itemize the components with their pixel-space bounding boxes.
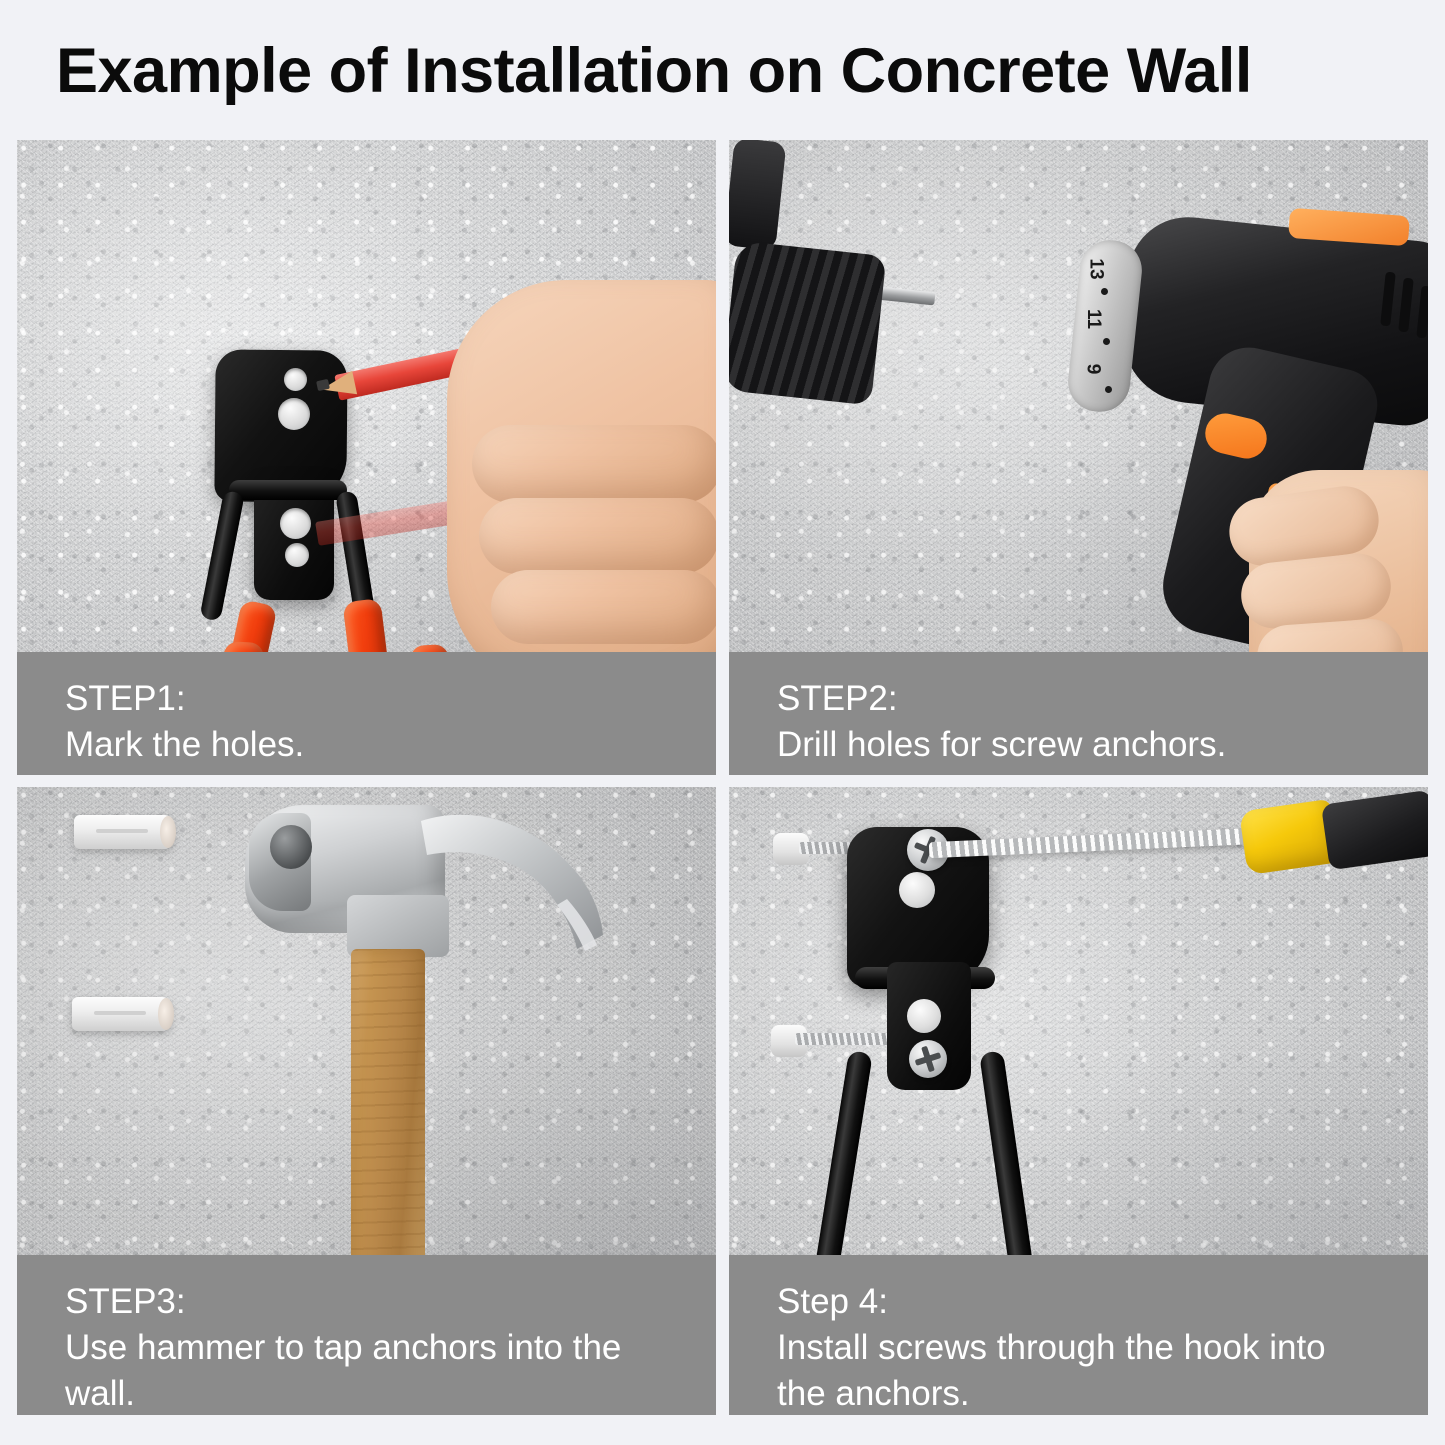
screwdriver-black-grip — [1321, 790, 1428, 871]
page-title: Example of Installation on Concrete Wall — [56, 28, 1396, 114]
step-1-caption: STEP1: Mark the holes. — [17, 652, 716, 775]
hammer-wooden-handle — [351, 949, 425, 1299]
mounting-hole-upper — [899, 872, 935, 908]
mounting-hole-lower — [907, 999, 941, 1033]
step-4-label: Step 4: — [777, 1279, 1380, 1325]
clutch-dot-3 — [1105, 386, 1112, 393]
step-4-caption: Step 4: Install screws through the hook … — [729, 1255, 1428, 1415]
clutch-number-9: 9 — [1081, 364, 1103, 375]
hook-bracket-bridge — [229, 480, 347, 500]
step-3-text: Use hammer to tap anchors into the wall. — [65, 1325, 668, 1415]
step-1-label: STEP1: — [65, 676, 668, 722]
screw-head-lower — [909, 1040, 947, 1078]
clutch-number-11: 11 — [1082, 309, 1104, 329]
step-panel-4: Step 4: Install screws through the hook … — [729, 787, 1428, 1415]
mounting-hole-3 — [280, 508, 311, 539]
hammer-head-hollow — [270, 825, 312, 869]
anchor-slit — [94, 1011, 146, 1015]
finger-middle — [479, 498, 716, 574]
mounting-hole-1 — [284, 368, 307, 391]
finger-ring — [491, 570, 716, 644]
step-1-text: Mark the holes. — [65, 722, 668, 768]
step-2-caption: STEP2: Drill holes for screw anchors. — [729, 652, 1428, 775]
drill-chuck — [729, 241, 886, 406]
step-2-text: Drill holes for screw anchors. — [777, 722, 1380, 768]
hammer-claw-icon — [417, 803, 607, 963]
step-4-text: Install screws through the hook into the… — [777, 1325, 1380, 1415]
step-3-label: STEP3: — [65, 1279, 668, 1325]
mounting-hole-2 — [278, 398, 310, 430]
clutch-number-13: 13 — [1085, 258, 1107, 279]
step-2-label: STEP2: — [777, 676, 1380, 722]
wall-anchor-upper — [74, 815, 174, 849]
clutch-dot-1 — [1101, 288, 1108, 295]
steps-grid: STEP1: Mark the holes. 13 11 9 — [17, 140, 1428, 1415]
step-panel-2: 13 11 9 STEP2: Dr — [729, 140, 1428, 775]
clutch-dot-2 — [1103, 338, 1110, 345]
step-3-caption: STEP3: Use hammer to tap anchors into th… — [17, 1255, 716, 1415]
anchor-slit — [96, 829, 148, 833]
wall-anchor-lower — [72, 997, 172, 1031]
finger-index — [472, 425, 716, 503]
installation-guide-page: Example of Installation on Concrete Wall — [0, 0, 1445, 1445]
step-panel-1: STEP1: Mark the holes. — [17, 140, 716, 775]
mounting-hole-4 — [285, 543, 309, 567]
step-panel-3: STEP3: Use hammer to tap anchors into th… — [17, 787, 716, 1415]
